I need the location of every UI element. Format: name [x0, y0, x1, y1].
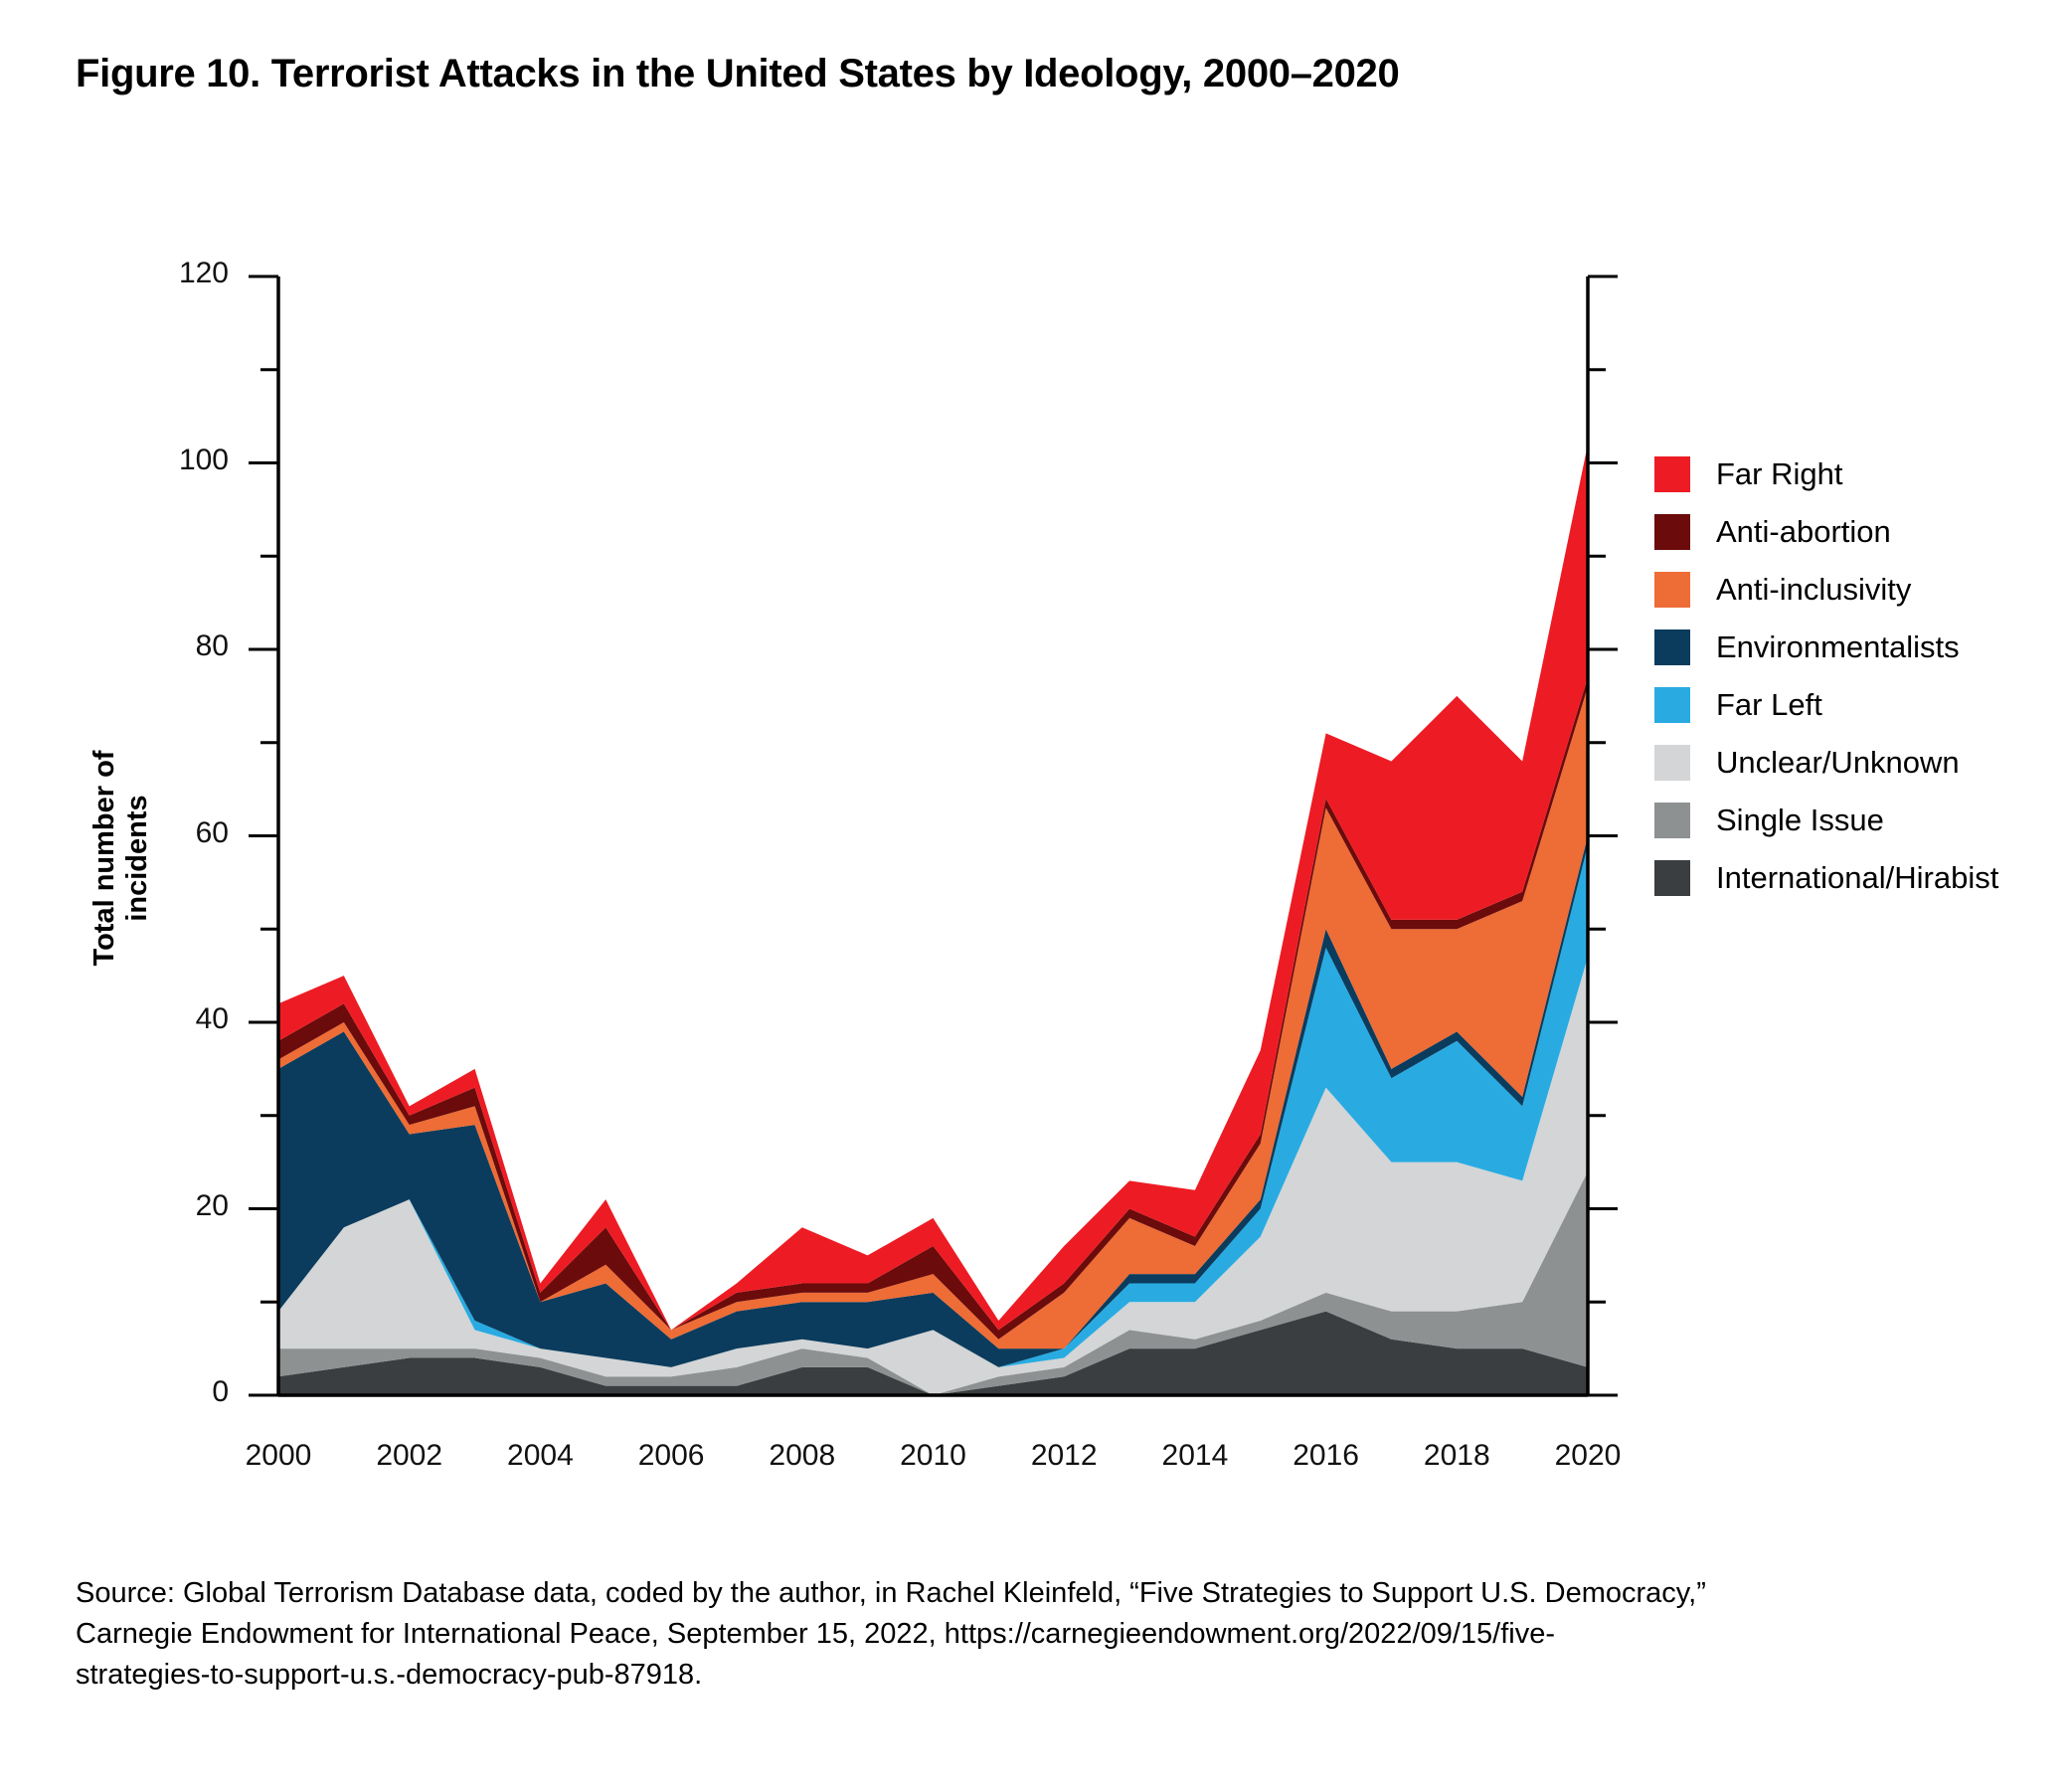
legend-swatch-icon [1654, 629, 1690, 665]
legend-item-label: Far Right [1716, 456, 1842, 492]
x-tick-label: 2000 [209, 1439, 348, 1473]
source-line-1: Source: Global Terrorism Database data, … [76, 1573, 2024, 1614]
legend-item[interactable]: Far Right [1654, 446, 1998, 503]
legend-item[interactable]: Anti-inclusivity [1654, 561, 1998, 619]
y-tick-label: 20 [119, 1189, 229, 1223]
legend-item-label: Anti-inclusivity [1716, 572, 1911, 608]
legend-swatch-icon [1654, 514, 1690, 550]
legend-item-label: Unclear/Unknown [1716, 745, 1960, 781]
legend-item-label: Far Left [1716, 687, 1822, 723]
y-tick-label: 0 [119, 1375, 229, 1409]
x-tick-label: 2010 [864, 1439, 1003, 1473]
legend-swatch-icon [1654, 745, 1690, 781]
x-tick-label: 2020 [1518, 1439, 1657, 1473]
y-tick-label: 40 [119, 1002, 229, 1036]
legend-item[interactable]: Single Issue [1654, 792, 1998, 849]
legend-swatch-icon [1654, 860, 1690, 896]
x-tick-label: 2002 [340, 1439, 479, 1473]
x-tick-label: 2016 [1257, 1439, 1396, 1473]
legend-item[interactable]: International/Hirabist [1654, 849, 1998, 907]
legend-item[interactable]: Unclear/Unknown [1654, 734, 1998, 792]
y-tick-label: 60 [119, 816, 229, 850]
x-tick-label: 2006 [602, 1439, 741, 1473]
y-tick-label: 80 [119, 629, 229, 663]
legend-swatch-icon [1654, 456, 1690, 492]
figure-page: Figure 10. Terrorist Attacks in the Unit… [0, 0, 2072, 1792]
x-tick-label: 2012 [994, 1439, 1133, 1473]
source-note: Source: Global Terrorism Database data, … [76, 1573, 2024, 1697]
x-tick-label: 2004 [470, 1439, 609, 1473]
legend-item-label: International/Hirabist [1716, 860, 1998, 896]
legend-swatch-icon [1654, 803, 1690, 838]
legend-item[interactable]: Far Left [1654, 676, 1998, 734]
legend-item-label: Anti-abortion [1716, 514, 1891, 550]
source-line-2: Carnegie Endowment for International Pea… [76, 1614, 2024, 1655]
legend-item-label: Single Issue [1716, 803, 1884, 838]
x-tick-label: 2018 [1387, 1439, 1526, 1473]
source-line-3: strategies-to-support-u.s.-democracy-pub… [76, 1655, 2024, 1696]
y-tick-label: 120 [119, 257, 229, 290]
legend-swatch-icon [1654, 687, 1690, 723]
chart-canvas: Total number of incidents 02040608010012… [0, 0, 2072, 1551]
legend-item[interactable]: Environmentalists [1654, 619, 1998, 676]
legend-swatch-icon [1654, 572, 1690, 608]
legend-item-label: Environmentalists [1716, 629, 1960, 665]
y-tick-label: 100 [119, 444, 229, 477]
y-axis-title: Total number of incidents [88, 699, 154, 1017]
legend-item[interactable]: Anti-abortion [1654, 503, 1998, 561]
x-tick-label: 2008 [733, 1439, 872, 1473]
x-tick-label: 2014 [1125, 1439, 1265, 1473]
chart-legend: Far RightAnti-abortionAnti-inclusivityEn… [1654, 446, 1998, 907]
